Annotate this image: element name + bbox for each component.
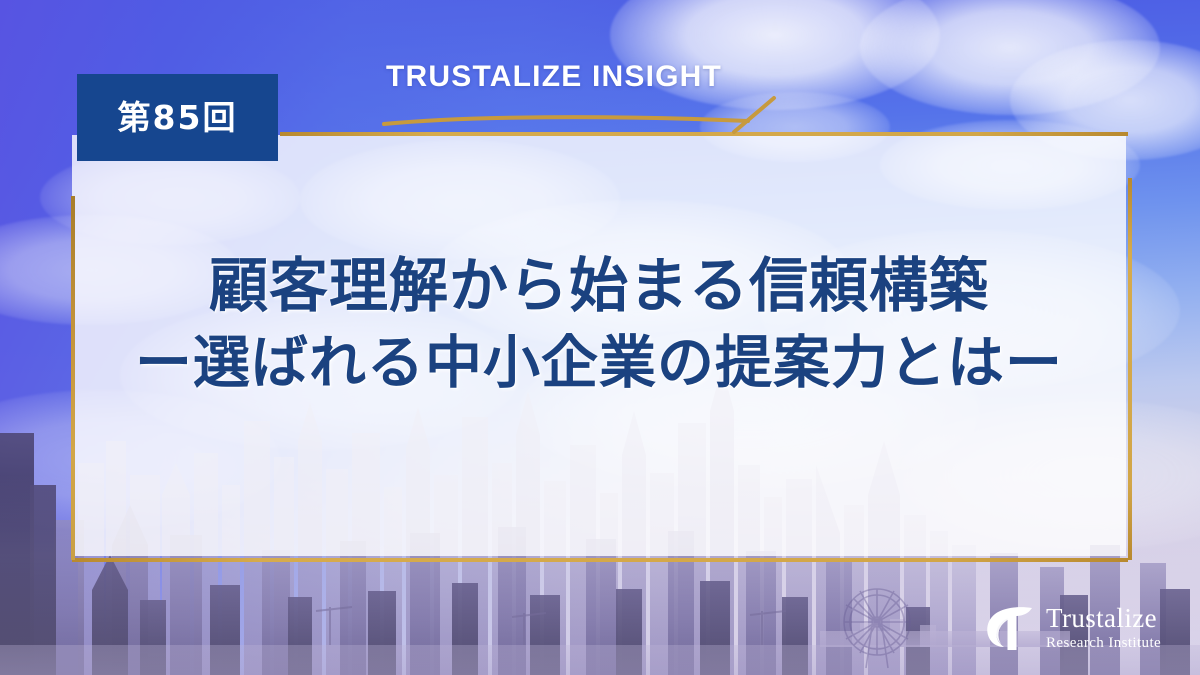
frame-line-right (1128, 178, 1132, 560)
main-title-line-2: ー選ばれる中小企業の提案力とはー (72, 325, 1126, 401)
episode-badge: 第85回 (77, 74, 278, 161)
trustalize-swirl-t-icon (980, 600, 1036, 656)
brand-title: TRUSTALIZE INSIGHT (386, 60, 722, 94)
brand-header: TRUSTALIZE INSIGHT (386, 60, 806, 120)
frame-line-bottom (72, 558, 1128, 562)
main-title: 顧客理解から始まる信頼構築 ー選ばれる中小企業の提案力とはー (72, 246, 1126, 401)
brand-underline-swoosh (378, 90, 798, 136)
logo-wordmark: Trustalize Research Institute (1046, 604, 1161, 651)
episode-badge-label: 第85回 (118, 101, 238, 134)
main-title-line-1: 顧客理解から始まる信頼構築 (72, 246, 1126, 325)
brand-logo: Trustalize Research Institute (980, 600, 1161, 656)
slide-canvas: 第85回 TRUSTALIZE INSIGHT 顧客理解から始まる信頼構築 ー選… (0, 0, 1200, 675)
logo-subtitle: Research Institute (1046, 636, 1161, 652)
logo-name: Trustalize (1046, 604, 1161, 632)
